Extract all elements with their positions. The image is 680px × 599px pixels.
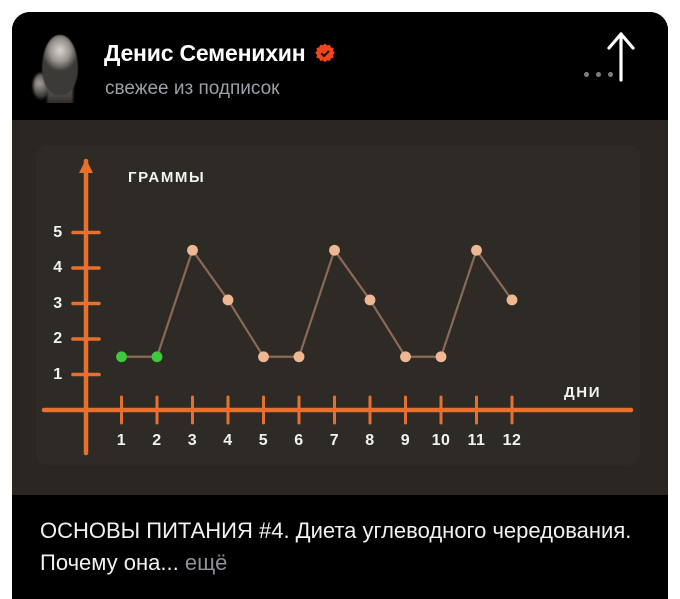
data-point — [329, 245, 340, 256]
x-tick-label: 8 — [365, 432, 374, 450]
data-point — [116, 351, 127, 362]
feed-video-card[interactable]: Денис Семенихин свежее из подписок — [12, 12, 668, 599]
avatar[interactable] — [31, 29, 89, 103]
x-tick-label: 11 — [468, 432, 486, 450]
video-frame[interactable]: ГРАММЫ ДНИ 12345 123456789101112 — [12, 120, 668, 495]
y-axis-title: ГРАММЫ — [128, 169, 205, 186]
x-axis-title: ДНИ — [564, 384, 601, 401]
video-caption[interactable]: ОСНОВЫ ПИТАНИЯ #4. Диета углеводного чер… — [12, 495, 668, 599]
dot-1 — [584, 72, 589, 77]
x-tick-label: 6 — [294, 432, 303, 450]
data-point — [223, 295, 234, 306]
dot-3 — [608, 72, 613, 77]
chart-axes — [44, 159, 631, 453]
y-tick-label: 1 — [53, 366, 62, 384]
data-point — [365, 295, 376, 306]
header-subtitle: свежее из подписок — [105, 78, 279, 100]
x-tick-label: 10 — [432, 432, 451, 450]
y-tick-label: 2 — [53, 330, 62, 348]
channel-name: Денис Семенихин — [104, 40, 305, 67]
x-tick-label: 5 — [259, 432, 268, 450]
video-header: Денис Семенихин свежее из подписок — [12, 12, 668, 120]
data-point — [187, 245, 198, 256]
y-tick-label: 4 — [53, 259, 62, 277]
data-point — [471, 245, 482, 256]
caption-body: ОСНОВЫ ПИТАНИЯ #4. Диета углеводного чер… — [40, 518, 631, 575]
dot-2 — [596, 72, 601, 77]
screenshot-root: Денис Семенихин свежее из подписок — [0, 0, 680, 599]
x-tick-label: 4 — [223, 432, 232, 450]
data-point — [507, 295, 518, 306]
verified-badge-icon — [314, 43, 336, 65]
caption-text: ОСНОВЫ ПИТАНИЯ #4. Диета углеводного чер… — [40, 515, 640, 579]
avatar-face — [42, 35, 78, 95]
data-point — [400, 351, 411, 362]
y-tick-label: 5 — [53, 224, 62, 242]
channel-name-row[interactable]: Денис Семенихин — [104, 40, 336, 67]
x-tick-label: 9 — [401, 432, 410, 450]
x-tick-label: 7 — [330, 432, 339, 450]
more-dots-icon[interactable] — [584, 72, 613, 77]
data-point — [294, 351, 305, 362]
chart-ticks — [73, 233, 512, 424]
y-tick-label: 3 — [53, 295, 62, 313]
x-tick-label: 12 — [503, 432, 522, 450]
x-tick-label: 1 — [117, 432, 126, 450]
show-more-link[interactable]: ещё — [185, 550, 228, 575]
chart-series-line — [122, 250, 513, 357]
x-tick-label: 3 — [188, 432, 197, 450]
line-chart — [36, 145, 640, 465]
chart-panel: ГРАММЫ ДНИ 12345 123456789101112 — [36, 145, 640, 465]
data-point — [436, 351, 447, 362]
data-point — [258, 351, 269, 362]
x-tick-label: 2 — [152, 432, 161, 450]
data-point — [152, 351, 163, 362]
